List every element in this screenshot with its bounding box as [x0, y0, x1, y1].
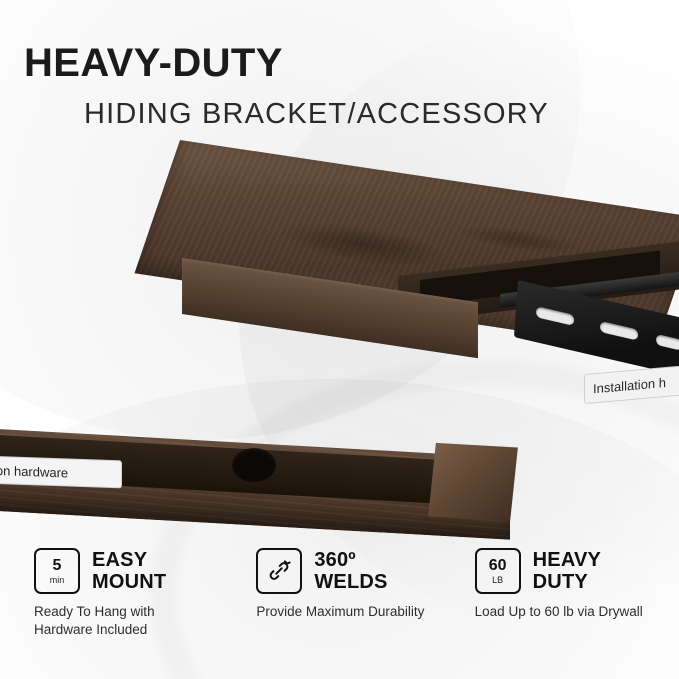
feature-header: 5 min EASY MOUNT	[34, 548, 238, 594]
feature-title-line2: DUTY	[533, 571, 601, 593]
feature-title: HEAVY DUTY	[533, 549, 601, 594]
feature-easy-mount: 5 min EASY MOUNT Ready To Hang with Hard…	[0, 548, 238, 658]
feature-360-welds: 360º WELDS Provide Maximum Durability	[238, 548, 460, 658]
feature-description: Load Up to 60 lb via Drywall	[475, 603, 655, 621]
feature-title-line2: MOUNT	[92, 571, 166, 593]
feature-title-line1: HEAVY	[533, 549, 601, 571]
page-title: HEAVY-DUTY	[24, 43, 283, 83]
hardware-label: ion hardware	[0, 456, 122, 489]
badge-value: 60	[489, 558, 507, 574]
feature-header: 60 LB HEAVY DUTY	[475, 548, 679, 594]
chain-link-icon	[256, 548, 302, 594]
feature-description: Ready To Hang with Hardware Included	[34, 603, 214, 639]
installation-hardware-label: Installation h	[584, 362, 679, 404]
feature-row: 5 min EASY MOUNT Ready To Hang with Hard…	[0, 548, 679, 658]
feature-title-line1: EASY	[92, 549, 166, 571]
feature-title-line2: WELDS	[314, 571, 387, 593]
feature-title: EASY MOUNT	[92, 549, 166, 594]
feature-header: 360º WELDS	[256, 548, 460, 594]
bracket-slot	[656, 334, 679, 351]
feature-title: 360º WELDS	[314, 549, 387, 594]
bracket-slot	[600, 321, 639, 341]
badge-unit: LB	[492, 576, 503, 585]
detail-product-photo: ion hardware	[0, 400, 679, 540]
feature-heavy-duty: 60 LB HEAVY DUTY Load Up to 60 lb via Dr…	[461, 548, 679, 658]
sixty-lb-badge: 60 LB	[475, 548, 521, 594]
page-subtitle: HIDING BRACKET/ACCESSORY	[84, 100, 549, 129]
product-infographic: HEAVY-DUTY HIDING BRACKET/ACCESSORY Inst…	[0, 0, 679, 679]
badge-unit: min	[50, 576, 65, 585]
badge-value: 5	[53, 558, 62, 574]
main-product-photo: Installation h	[0, 130, 679, 410]
five-min-badge: 5 min	[34, 548, 80, 594]
shelf-end-grain	[428, 443, 518, 521]
bracket-hole	[232, 448, 276, 482]
bracket-slot	[536, 306, 575, 326]
feature-title-line1: 360º	[314, 549, 387, 571]
feature-description: Provide Maximum Durability	[256, 603, 436, 621]
